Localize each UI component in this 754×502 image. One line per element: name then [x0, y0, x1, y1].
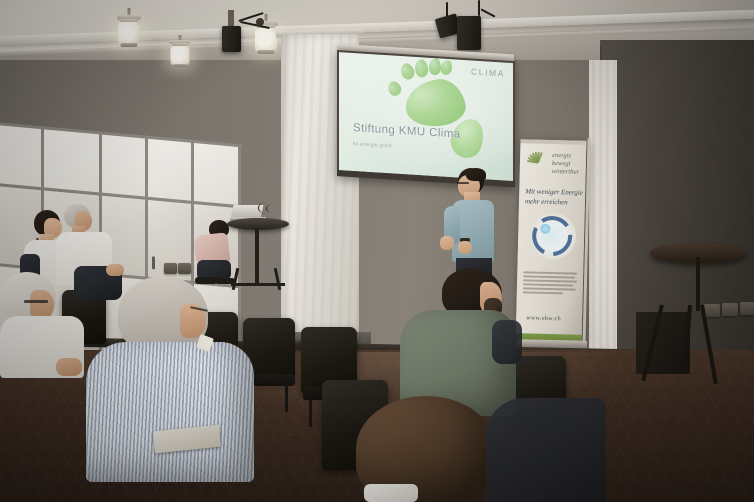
- attendee3-glasses: [24, 300, 48, 303]
- presenter-hair: [466, 168, 486, 181]
- banner-brand: energie bewegt winterthur: [552, 152, 580, 177]
- wall-socket-2[interactable]: [722, 303, 738, 316]
- attendee7-body: [486, 398, 606, 502]
- attendee5-arm-raised: [492, 320, 522, 364]
- av-cable-2: [266, 204, 279, 213]
- presenter-glasses: [457, 182, 469, 184]
- banner-claim-line2: mehr erreichen: [525, 197, 583, 208]
- attendee-white-hair-glasses: [0, 272, 100, 392]
- sunburst-leaf-icon: [527, 150, 552, 175]
- wall-socket-4[interactable]: [164, 263, 177, 274]
- presenter-left-hand: [440, 236, 454, 250]
- bistro-table-stem: [696, 257, 700, 311]
- blue-cycle-diagram: [528, 211, 577, 260]
- slide-brand-clima: CLIMA: [471, 66, 505, 78]
- attendee-striped-shirt: [86, 276, 262, 502]
- banner-top-rail: [520, 139, 586, 145]
- rollup-banner: energie bewegt winterthur Mit weniger En…: [515, 139, 586, 347]
- banner-paragraph: [523, 271, 578, 296]
- presentation-room-photo: CLIMA Stiftung KMU Clima kli energie gre…: [0, 0, 754, 502]
- wall-socket-3[interactable]: [740, 302, 754, 315]
- wall-socket-1[interactable]: [704, 304, 720, 317]
- banner-url: www.ebw.ch: [526, 315, 561, 322]
- ceiling-speaker-right: [457, 16, 481, 50]
- ceiling-speaker-left: [222, 26, 241, 52]
- projection-screen: CLIMA Stiftung KMU Clima kli energie gre…: [339, 52, 513, 181]
- pendant-lamp-2: [165, 35, 195, 77]
- attendee4-shirt: [86, 342, 254, 482]
- wall-socket-5[interactable]: [178, 263, 191, 274]
- speaker-mount-stem-2: [478, 0, 480, 16]
- presenter-right-hand: [458, 241, 472, 254]
- attendee2-hands: [106, 264, 124, 276]
- banner-brand-line3: winterthur: [552, 168, 580, 177]
- toe-leaf-3: [429, 58, 441, 76]
- door-handle-3[interactable]: [152, 256, 155, 269]
- pendant-lamp-1: [112, 8, 146, 54]
- attendee6-collar: [364, 484, 418, 502]
- attendee-bottom-right: [486, 398, 606, 502]
- projection-screen-frame: CLIMA Stiftung KMU Clima kli energie gre…: [337, 50, 515, 187]
- attendee3-hand: [56, 358, 82, 376]
- rig-knot: [256, 18, 264, 26]
- presenter: [440, 168, 506, 280]
- banner-claim: Mit weniger Energie mehr erreichen: [525, 187, 583, 207]
- curtain-right-edge: [589, 60, 617, 350]
